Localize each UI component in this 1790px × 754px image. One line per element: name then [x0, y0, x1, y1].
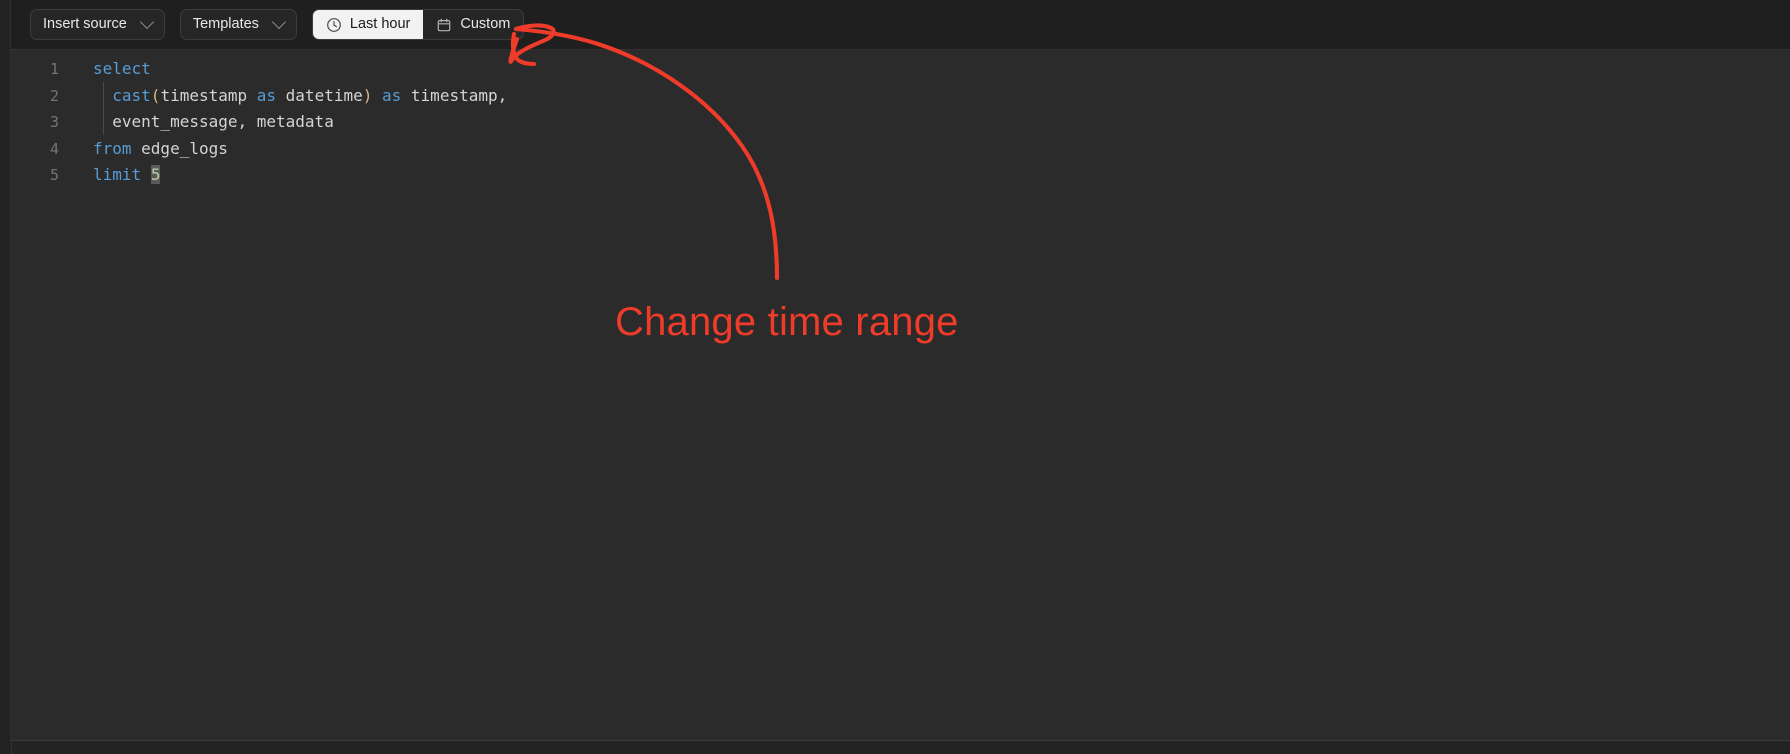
bottom-strip-edge: [11, 741, 12, 754]
time-range-option-last-hour-label: Last hour: [350, 17, 410, 32]
chevron-down-icon: [272, 14, 286, 28]
templates-label: Templates: [193, 17, 259, 32]
code-line[interactable]: 4from edge_logs: [11, 136, 1790, 163]
code-token: (: [151, 86, 161, 105]
code-line-text[interactable]: select: [59, 56, 151, 83]
insert-source-label: Insert source: [43, 17, 127, 32]
time-range-segmented-control: Last hour Custom: [312, 9, 524, 40]
code-line-text[interactable]: cast(timestamp as datetime) as timestamp…: [59, 83, 507, 110]
insert-source-button[interactable]: Insert source: [30, 9, 165, 40]
code-token: timestamp: [160, 86, 256, 105]
code-line[interactable]: 1select: [11, 56, 1790, 83]
code-lines[interactable]: 1select2 cast(timestamp as datetime) as …: [11, 56, 1790, 189]
code-token: edge_logs: [132, 139, 228, 158]
code-line[interactable]: 5limit 5: [11, 162, 1790, 189]
bottom-strip: [0, 741, 1790, 754]
code-token: select: [93, 59, 151, 78]
log-explorer-screen: Insert source Templates Last hour: [0, 0, 1790, 754]
code-token: from: [93, 139, 132, 158]
code-token: timestamp,: [401, 86, 507, 105]
code-token: limit: [93, 165, 141, 184]
code-token: ): [363, 86, 373, 105]
line-number: 3: [11, 109, 59, 136]
code-line[interactable]: 2 cast(timestamp as datetime) as timesta…: [11, 83, 1790, 110]
code-token: datetime: [276, 86, 363, 105]
code-token: [141, 165, 151, 184]
calendar-icon: [436, 17, 452, 33]
code-token: as: [382, 86, 401, 105]
code-token: as: [257, 86, 276, 105]
left-gutter-strip: [0, 0, 11, 754]
line-number: 4: [11, 136, 59, 163]
clock-icon: [326, 17, 342, 33]
code-token: event_message, metadata: [93, 112, 334, 131]
code-token: [372, 86, 382, 105]
line-number: 1: [11, 56, 59, 83]
code-line[interactable]: 3 event_message, metadata: [11, 109, 1790, 136]
code-area[interactable]: 1select2 cast(timestamp as datetime) as …: [11, 50, 1790, 189]
code-token: [93, 86, 112, 105]
code-line-text[interactable]: limit 5: [59, 162, 160, 189]
code-token: cast: [112, 86, 151, 105]
chevron-down-icon: [140, 14, 154, 28]
code-line-text[interactable]: from edge_logs: [59, 136, 228, 163]
code-line-text[interactable]: event_message, metadata: [59, 109, 334, 136]
templates-button[interactable]: Templates: [180, 9, 297, 40]
line-number: 2: [11, 83, 59, 110]
code-token: 5: [151, 165, 161, 184]
time-range-option-last-hour[interactable]: Last hour: [313, 10, 423, 39]
editor-toolbar: Insert source Templates Last hour: [11, 0, 1790, 50]
time-range-option-custom-label: Custom: [460, 17, 510, 32]
line-number: 5: [11, 162, 59, 189]
time-range-option-custom[interactable]: Custom: [423, 10, 523, 39]
sql-editor[interactable]: 1select2 cast(timestamp as datetime) as …: [11, 50, 1790, 740]
